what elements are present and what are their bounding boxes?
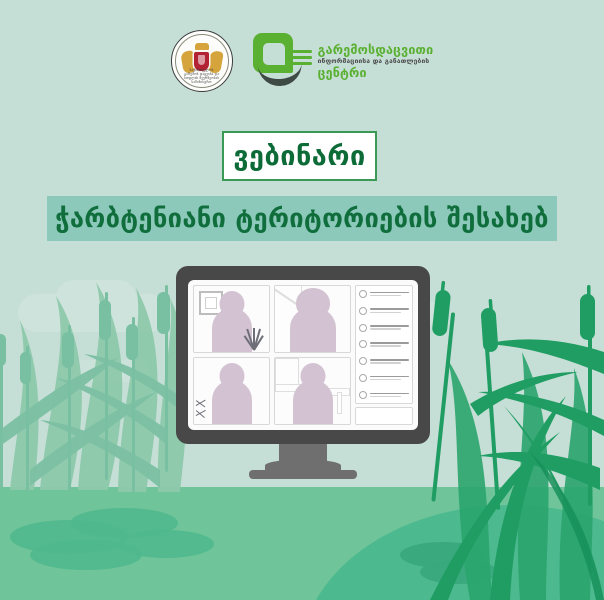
monitor-illustration (176, 266, 430, 444)
logo-book-swoosh (257, 52, 303, 88)
list-item[interactable] (359, 307, 409, 315)
video-tile[interactable] (274, 285, 351, 353)
avatar (359, 340, 367, 348)
avatar (359, 324, 367, 332)
participant-name-lines (370, 359, 409, 364)
monitor-stand-base (249, 470, 357, 479)
emblem-caption: საქართველოს გარემოს დაცვისა და სოფლის მე… (172, 68, 232, 84)
participant-name-lines (370, 342, 409, 347)
participant-name-lines (370, 325, 409, 330)
list-item[interactable] (359, 290, 409, 298)
participant-list[interactable] (355, 285, 413, 404)
video-tile[interactable] (193, 285, 270, 353)
avatar (359, 290, 367, 298)
video-call-screen (188, 280, 418, 430)
logo-text-line-1: გარემოსდაცვითი (318, 43, 434, 56)
list-item[interactable] (359, 391, 409, 399)
panel-footer-bar[interactable] (355, 407, 413, 425)
header-logos: საქართველოს გარემოს დაცვისა და სოფლის მე… (0, 26, 604, 96)
cabinet-shape (275, 358, 299, 386)
participant-name-lines (370, 308, 409, 313)
list-item[interactable] (359, 340, 409, 348)
page-title: ჭარბტენიანი ტერიტორიების შესახებ (55, 204, 549, 234)
eiec-logo-mark-icon (253, 33, 309, 89)
list-item[interactable] (359, 357, 409, 365)
video-tile-grid (193, 285, 351, 425)
participant-silhouette (212, 380, 252, 424)
participant-silhouette (290, 308, 336, 352)
participant-name-lines (370, 292, 409, 297)
participant-name-lines (370, 376, 409, 381)
avatar (359, 307, 367, 315)
participant-panel (355, 285, 413, 425)
pole-shape (337, 392, 342, 414)
eiec-logo-text: გარემოსდაცვითი ინფორმაციისა და განათლები… (318, 43, 434, 79)
avatar (359, 374, 367, 382)
logo-text-line-3: ცენტრი (318, 66, 434, 79)
emblem-caption-line-4: სამინისტრო (172, 80, 232, 84)
participant-name-lines (370, 393, 409, 398)
subtitle-band: ჭარბტენიანი ტერიტორიების შესახებ (47, 196, 557, 241)
video-tile[interactable] (274, 357, 351, 425)
participant-silhouette (293, 380, 333, 424)
avatar (359, 391, 367, 399)
scribble-lines-icon (196, 398, 208, 420)
list-item[interactable] (359, 374, 409, 382)
logo-text-line-2: ინფორმაციისა და განათლების (318, 57, 434, 65)
poster-canvas: საქართველოს გარემოს დაცვისა და სოფლის მე… (0, 0, 604, 600)
georgia-coat-of-arms-icon: საქართველოს გარემოს დაცვისა და სოფლის მე… (171, 30, 233, 92)
emblem-crown (195, 43, 209, 50)
avatar (359, 357, 367, 365)
video-tile[interactable] (193, 357, 270, 425)
webinar-badge: ვებინარი (222, 131, 377, 181)
webinar-badge-label: ვებინარი (233, 141, 365, 172)
eiec-logo: გარემოსდაცვითი ინფორმაციისა და განათლები… (253, 33, 434, 89)
list-item[interactable] (359, 324, 409, 332)
potted-plant-icon (243, 324, 265, 350)
